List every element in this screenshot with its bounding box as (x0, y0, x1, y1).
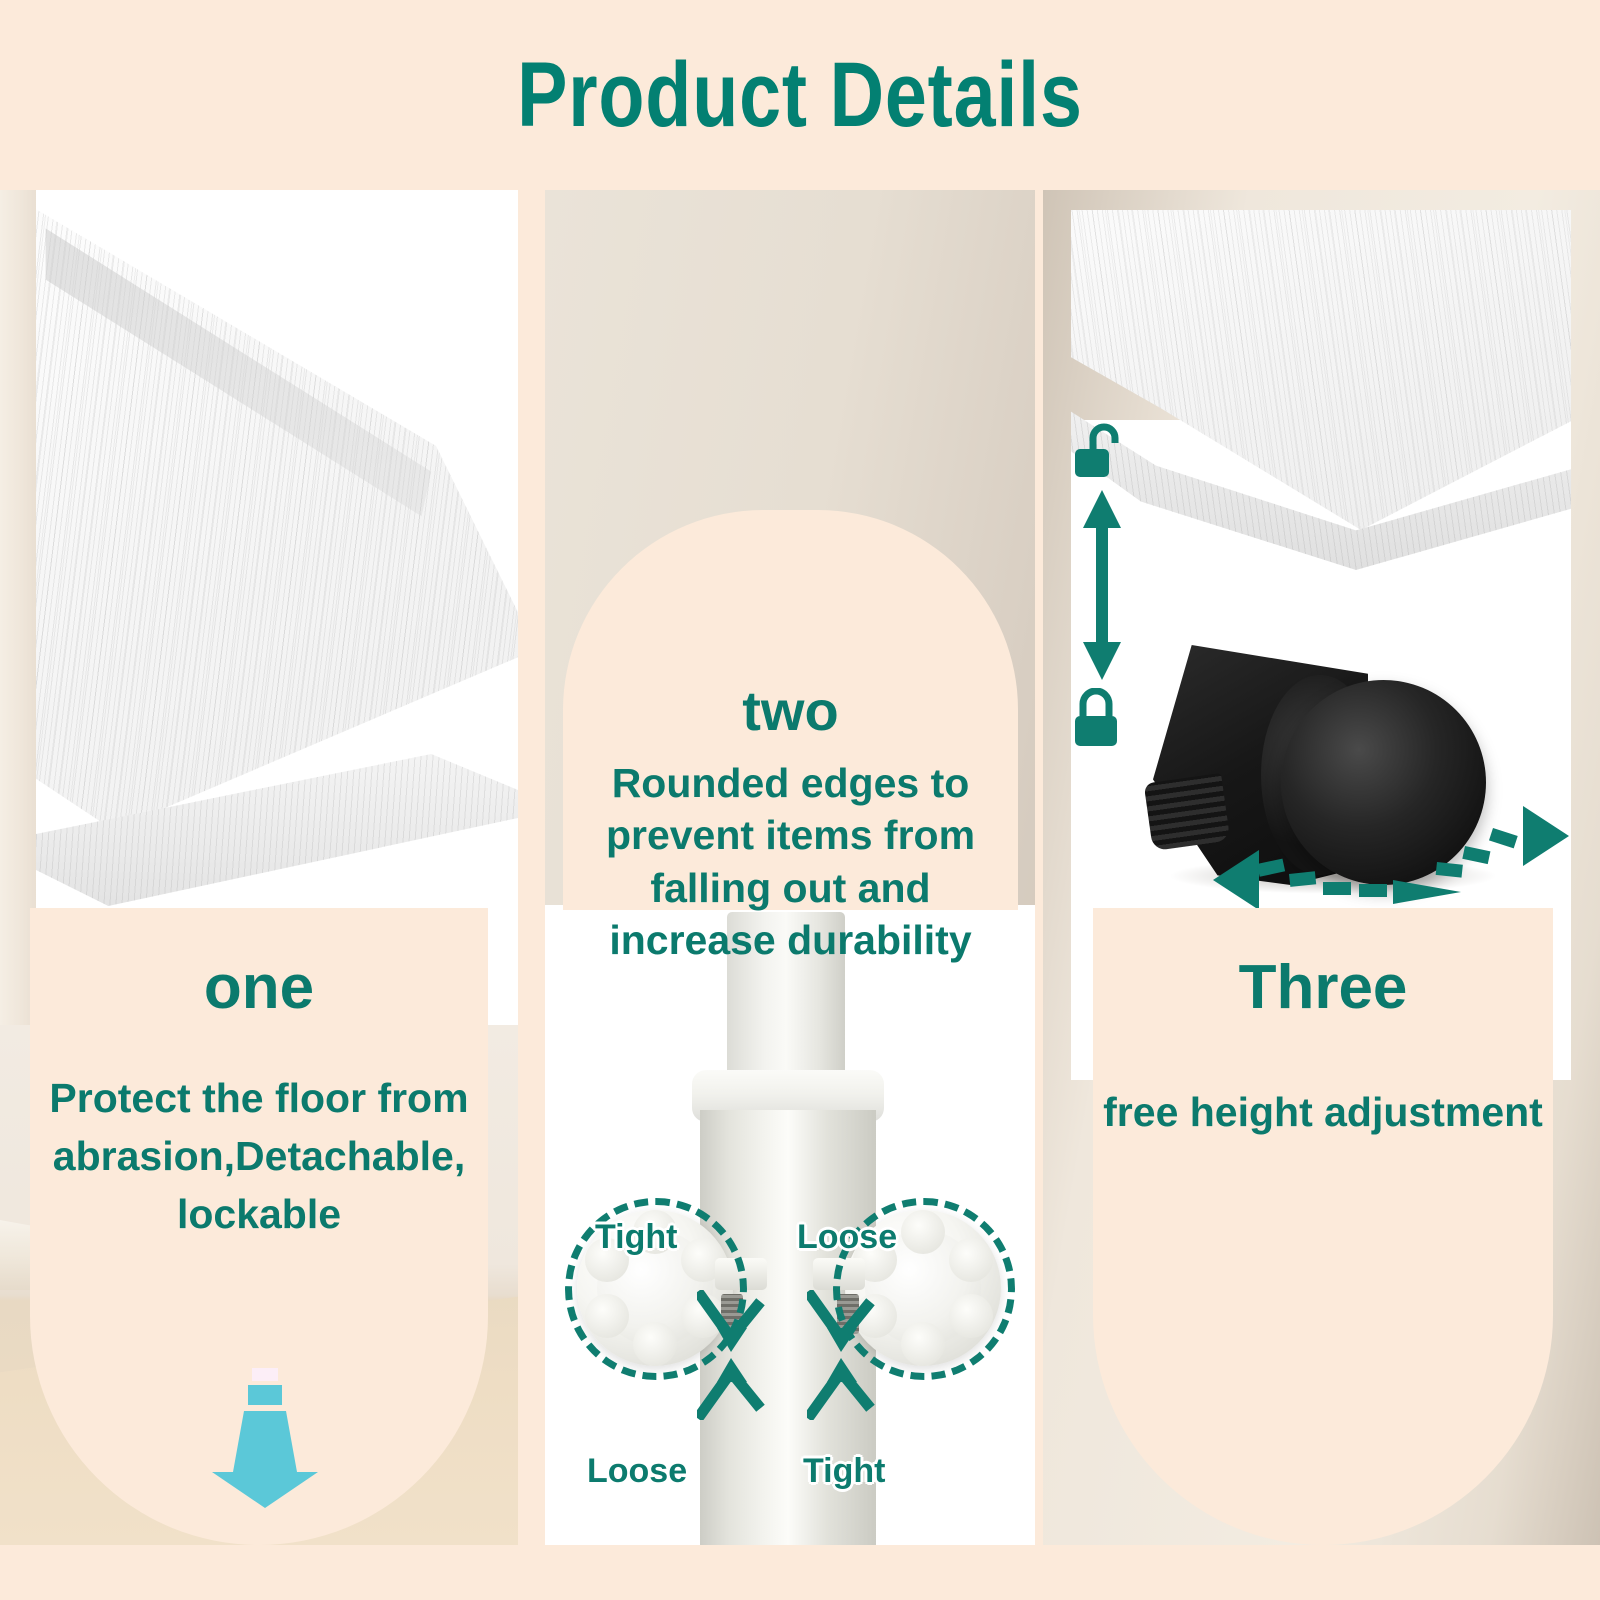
caption-body-two: Rounded edges to prevent items from fall… (586, 757, 996, 967)
panel-two: Tight Loose Loose Tight two Rounded edge… (545, 190, 1035, 1545)
arrow-down-icon (200, 1368, 330, 1508)
caption-heading-two: two (742, 678, 838, 743)
unlock-icon (1073, 423, 1131, 485)
tabletop (36, 190, 518, 950)
turn-direction-arrows-right (807, 1290, 877, 1420)
page-title-bar: Product Details (0, 0, 1600, 190)
caption-heading-one: one (204, 952, 314, 1023)
turn-direction-arrows-left (697, 1290, 767, 1420)
caption-body-one: Protect the floor from abrasion,Detachab… (44, 1069, 474, 1244)
knob-left-top-label: Tight (595, 1218, 677, 1257)
knob-right-top-label: Loose (797, 1218, 897, 1257)
page-title: Product Details (517, 43, 1083, 148)
arrow-up-down-icon (1081, 490, 1123, 680)
caption-body-three: free height adjustment (1098, 1083, 1548, 1141)
infographic-page: Product Details one Protect the floor fr… (0, 0, 1600, 1600)
lock-icon (1073, 688, 1131, 750)
rotation-arrow-icon (1193, 788, 1573, 918)
knob-left-bottom-label: Loose (587, 1452, 687, 1491)
panel-one: one Protect the floor from abrasion,Deta… (0, 190, 518, 1545)
panel-three: 360° Three free height adjustment (1043, 190, 1600, 1545)
caption-card-two: two Rounded edges to prevent items from … (563, 510, 1018, 910)
knob-right-bottom-label: Tight (803, 1452, 885, 1491)
caption-heading-three: Three (1239, 952, 1408, 1023)
caption-card-three: Three free height adjustment (1093, 908, 1553, 1545)
